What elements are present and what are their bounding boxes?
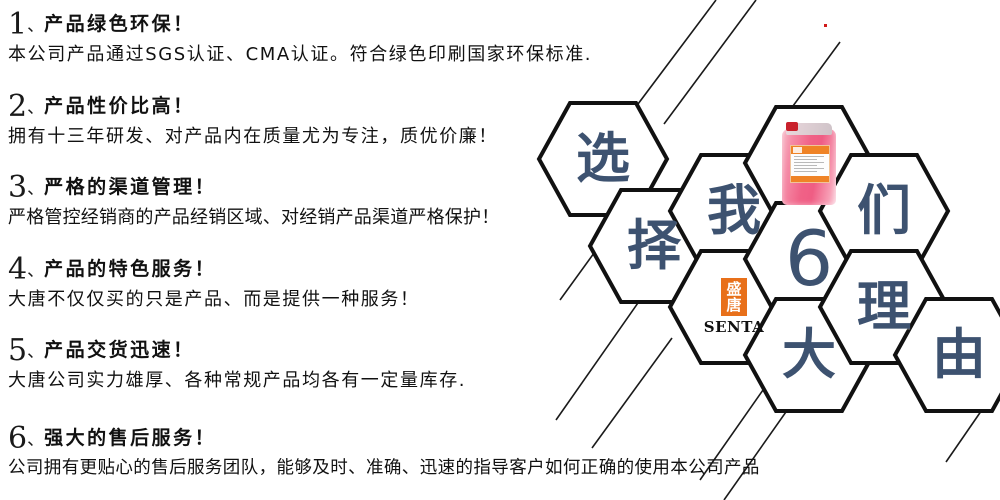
label-text-line: [794, 171, 817, 172]
product-jerrycan-image: [780, 121, 838, 205]
honeycomb-graphic: 选 择 我 盛 唐 SENTA: [0, 0, 1000, 500]
label-text-line: [794, 159, 817, 160]
label-chip: [793, 147, 802, 153]
product-label: [790, 145, 830, 183]
brand-seal-bottom-char: 唐: [726, 297, 741, 313]
hex-label: 选: [576, 132, 630, 186]
hex-label: 择: [627, 219, 681, 273]
brand-seal-top-char: 盛: [726, 281, 741, 297]
poster-canvas: 1、产品绿色环保！ 本公司产品通过SGS认证、CMA认证。符合绿色印刷国家环保标…: [0, 0, 1000, 500]
can-cap-icon: [786, 122, 798, 131]
label-footer-bar: [791, 176, 829, 182]
label-text-line: [794, 156, 824, 157]
hex-label: 我: [707, 184, 761, 238]
brand-name: SENTA: [704, 318, 764, 336]
hex-label: 理: [857, 280, 911, 334]
brand-seal-icon: 盛 唐: [721, 278, 747, 316]
label-text-line: [794, 165, 817, 166]
brand-logo: 盛 唐 SENTA: [704, 278, 764, 336]
label-header-bar: [791, 146, 829, 154]
hex-label: 由: [932, 328, 986, 382]
hex-label: 们: [857, 184, 911, 238]
label-text-line: [794, 168, 824, 169]
hex-label: 大: [782, 328, 836, 382]
hex-label: 6: [785, 221, 833, 297]
label-text-line: [794, 162, 824, 163]
